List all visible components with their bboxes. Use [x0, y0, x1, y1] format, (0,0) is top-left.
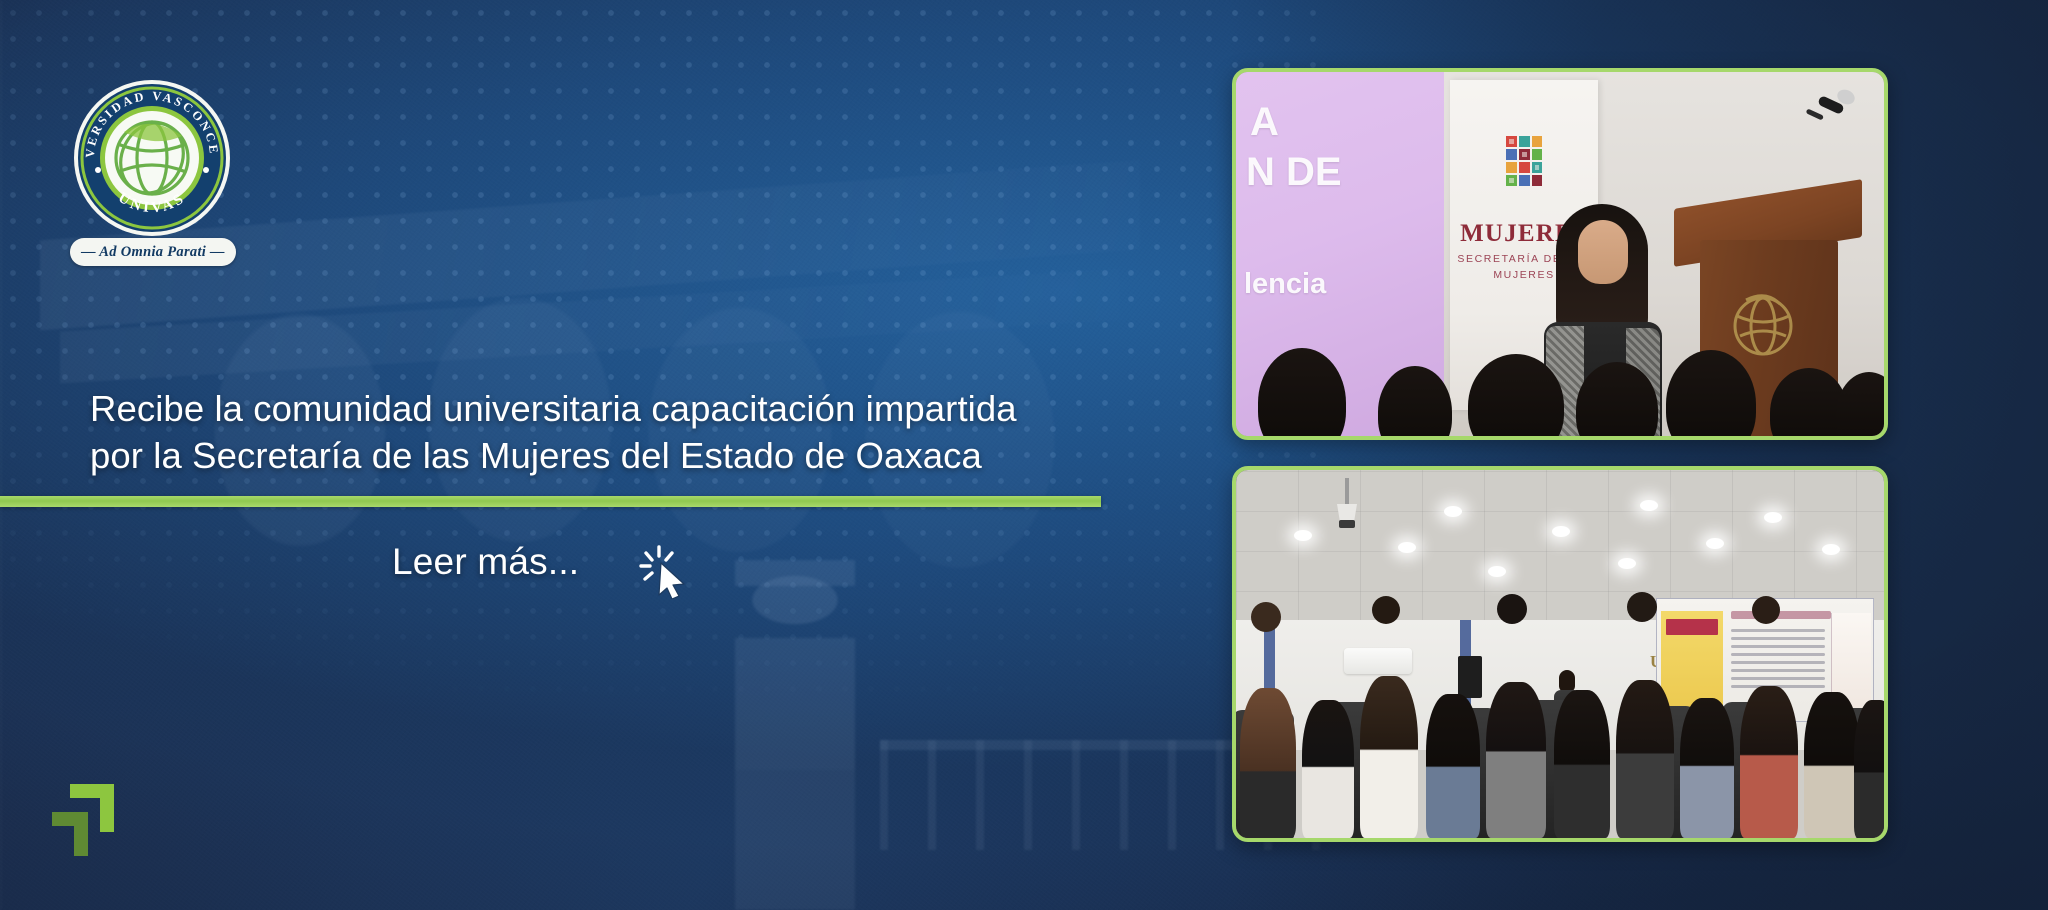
cta-row: Leer más... [392, 525, 693, 599]
projection-text-1: A [1250, 100, 1279, 145]
read-more-link[interactable]: Leer más... [392, 541, 579, 583]
audience-seated [1236, 592, 1884, 838]
headline-line-1: Recibe la comunidad universitaria capaci… [90, 388, 1017, 429]
headline-line-2: por la Secretaría de las Mujeres del Est… [90, 432, 1150, 479]
oaxaca-emblem-icon [1500, 132, 1548, 198]
audience-foreground [1236, 344, 1884, 436]
photo-speaker-podium[interactable]: A N DE lencia [1232, 68, 1888, 440]
corner-bracket-mark-icon [48, 778, 134, 864]
univas-seal-icon: UNIVERSIDAD VASCONCELOS UNIVAS [72, 78, 232, 238]
projector-icon [1334, 478, 1360, 530]
projection-text-3: lencia [1244, 268, 1326, 301]
page-title: Recibe la comunidad universitaria capaci… [90, 385, 1150, 480]
photo-scene-auditorium: UNIVAS Ad Omnia Parati [1236, 470, 1884, 838]
projection-text-2: N DE [1246, 150, 1342, 195]
click-cursor-icon [637, 543, 693, 599]
logo-motto-text: — Ad Omnia Parati — [81, 244, 225, 261]
logo-motto-ribbon: — Ad Omnia Parati — [70, 238, 236, 266]
photo-scene-speaker: A N DE lencia [1236, 72, 1884, 436]
banner-slide: UNIVERSIDAD VASCONCELOS UNIVAS — Ad Omni… [0, 0, 2048, 910]
green-divider-bar [0, 496, 1101, 507]
univas-logo[interactable]: UNIVERSIDAD VASCONCELOS UNIVAS — Ad Omni… [72, 78, 232, 273]
microphone-icon [1802, 88, 1862, 132]
photo-auditorium-audience[interactable]: UNIVAS Ad Omnia Parati [1232, 466, 1888, 842]
